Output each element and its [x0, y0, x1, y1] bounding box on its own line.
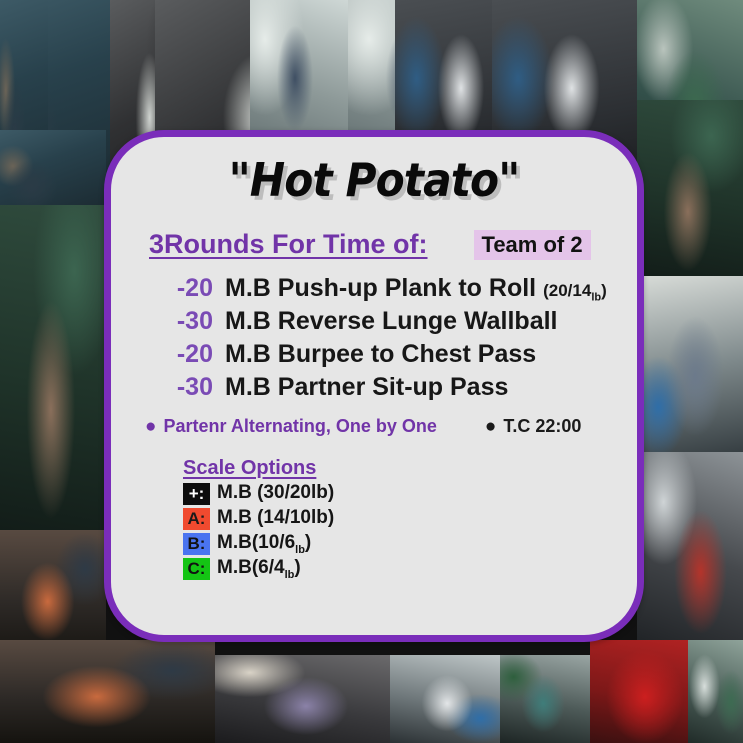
scale-option-text: M.B(10/6lb)	[217, 532, 311, 556]
scale-option-text: M.B (30/20lb)	[217, 482, 334, 506]
photo-teal-shirt-athlete	[500, 655, 590, 743]
partner-note: ●Partenr Alternating, One by One	[145, 416, 437, 437]
movement-list: -20 M.B Push-up Plank to Roll (20/14lb) …	[159, 274, 637, 402]
scale-badge-c: C:	[183, 558, 210, 580]
partner-note-text: Partenr Alternating, One by One	[163, 416, 436, 436]
rounds-label: 3Rounds For Time of:	[149, 229, 428, 260]
scale-option-row: B: M.B(10/6lb)	[183, 532, 637, 556]
bullet-icon: ●	[145, 416, 156, 437]
photo-bottom-right-filler	[688, 640, 743, 743]
movement-load-unit: lb	[591, 291, 601, 303]
movement-name: M.B Burpee to Chest Pass	[225, 340, 536, 369]
bullet-icon: ●	[485, 416, 496, 437]
scale-option-value: M.B(10/6	[217, 532, 295, 553]
photo-overhead-lunge-woman	[0, 205, 106, 535]
scale-badge-b: B:	[183, 533, 210, 555]
workout-title: "Hot Potato"	[132, 153, 616, 207]
scale-badge-a: A:	[183, 508, 210, 530]
scale-options-section: Scale Options +: M.B (30/20lb) A: M.B (1…	[183, 457, 637, 580]
movement-row: -30 M.B Reverse Lunge Wallball	[159, 307, 637, 336]
scale-option-tail: )	[294, 557, 300, 578]
scale-badge-rx-plus: +:	[183, 483, 210, 505]
scale-option-value: M.B (14/10lb)	[217, 507, 334, 528]
movement-reps: -20	[159, 274, 225, 303]
photo-yellow-shorts-athlete	[0, 130, 106, 210]
scale-options-title: Scale Options	[183, 457, 637, 480]
photo-pullup-athlete	[637, 100, 743, 280]
movement-name: M.B Partner Sit-up Pass	[225, 373, 508, 402]
photo-deadlift-white-shirt	[390, 655, 500, 743]
workout-card: "Hot Potato" 3Rounds For Time of: Team o…	[104, 130, 644, 642]
scale-option-row: C: M.B(6/4lb)	[183, 557, 637, 581]
scale-option-value: M.B (30/20lb)	[217, 482, 334, 503]
photo-chain-pair	[0, 640, 215, 743]
scale-option-value: M.B(6/4	[217, 557, 285, 578]
movement-load-close: )	[601, 281, 607, 300]
time-cap: ●T.C 22:00	[485, 416, 582, 437]
movement-load-value: (20/14	[543, 281, 591, 300]
note-row: ●Partenr Alternating, One by One ●T.C 22…	[145, 416, 637, 437]
movement-reps: -20	[159, 340, 225, 369]
movement-row: -20 M.B Burpee to Chest Pass	[159, 340, 637, 369]
movement-name: M.B Reverse Lunge Wallball	[225, 307, 557, 336]
movement-row: -30 M.B Partner Sit-up Pass	[159, 373, 637, 402]
scale-option-tail: )	[305, 532, 311, 553]
movement-row: -20 M.B Push-up Plank to Roll (20/14lb)	[159, 274, 637, 303]
scale-option-row: A: M.B (14/10lb)	[183, 507, 637, 531]
workout-header-row: 3Rounds For Time of: Team of 2	[149, 229, 637, 260]
scale-option-row: +: M.B (30/20lb)	[183, 482, 637, 506]
scale-option-text: M.B (14/10lb)	[217, 507, 334, 531]
photo-back-squat	[215, 655, 390, 743]
photo-barbell-overhead-red-shirt	[637, 452, 743, 652]
time-cap-text: T.C 22:00	[503, 416, 581, 436]
movement-reps: -30	[159, 307, 225, 336]
team-badge: Team of 2	[474, 230, 591, 260]
scale-option-text: M.B(6/4lb)	[217, 557, 301, 581]
movement-load: (20/14lb)	[543, 281, 607, 303]
poster-canvas: "Hot Potato" 3Rounds For Time of: Team o…	[0, 0, 743, 743]
photo-deadlift-man-blue	[637, 276, 743, 458]
movement-reps: -30	[159, 373, 225, 402]
photo-red-shirt-closeup	[590, 640, 690, 743]
movement-name: M.B Push-up Plank to Roll	[225, 274, 536, 303]
scale-option-unit: lb	[285, 569, 295, 581]
scale-option-unit: lb	[295, 544, 305, 556]
